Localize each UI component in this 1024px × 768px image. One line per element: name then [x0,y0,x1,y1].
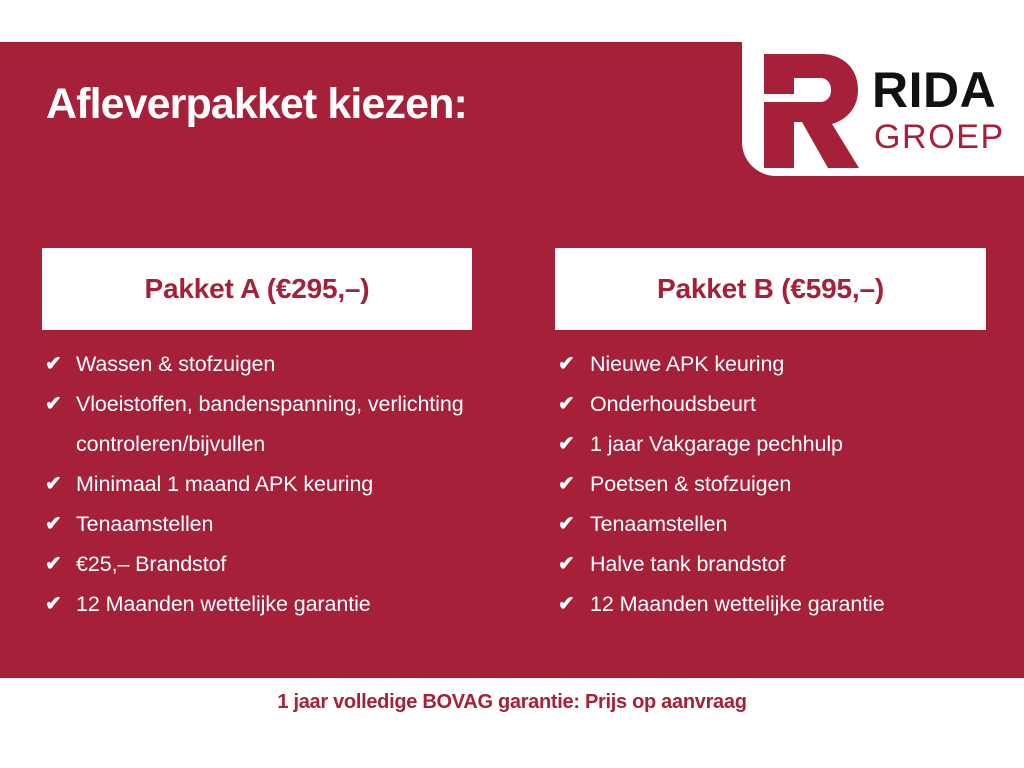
package-a-feature-list: ✔ Wassen & stofzuigen ✔ Vloeistoffen, ba… [42,344,472,624]
check-icon: ✔ [558,504,575,544]
list-item-label: 12 Maanden wettelijke garantie [76,592,371,616]
list-item: ✔ 12 Maanden wettelijke garantie [555,584,986,624]
list-item: ✔ Minimaal 1 maand APK keuring [42,464,472,504]
brand-logo-panel: RIDA GROEP [742,42,1024,176]
list-item: ✔ 12 Maanden wettelijke garantie [42,584,472,624]
list-item: ✔ Nieuwe APK keuring [555,344,986,384]
package-b-feature-list: ✔ Nieuwe APK keuring ✔ Onderhoudsbeurt ✔… [555,344,986,624]
list-item-label: Vloeistoffen, bandenspanning, verlichtin… [76,392,464,456]
footer-text: 1 jaar volledige BOVAG garantie: Prijs o… [277,691,746,714]
package-b-title: Pakket B (€595,–) [657,273,884,305]
package-column-b: Pakket B (€595,–) ✔ Nieuwe APK keuring ✔… [512,248,1024,624]
package-a-title: Pakket A (€295,–) [145,273,370,305]
check-icon: ✔ [558,544,575,584]
check-icon: ✔ [558,344,575,384]
list-item-label: 12 Maanden wettelijke garantie [590,592,885,616]
list-item-label: Halve tank brandstof [590,552,785,576]
check-icon: ✔ [45,344,62,384]
list-item-label: Tenaamstellen [590,512,727,536]
check-icon: ✔ [45,584,62,624]
page-title: Afleverpakket kiezen: [46,80,467,129]
check-icon: ✔ [558,584,575,624]
slide-canvas: RIDA GROEP Afleverpakket kiezen: Pakket … [0,0,1024,768]
list-item-label: €25,– Brandstof [76,552,226,576]
check-icon: ✔ [558,424,575,464]
check-icon: ✔ [45,504,62,544]
package-a-header: Pakket A (€295,–) [42,248,472,330]
list-item: ✔ €25,– Brandstof [42,544,472,584]
list-item-label: Poetsen & stofzuigen [590,472,791,496]
list-item-label: Wassen & stofzuigen [76,352,275,376]
list-item-label: 1 jaar Vakgarage pechhulp [590,432,843,456]
footer-banner: 1 jaar volledige BOVAG garantie: Prijs o… [0,678,1024,768]
check-icon: ✔ [45,544,62,584]
check-icon: ✔ [558,464,575,504]
brand-subtitle: GROEP [874,120,1005,154]
list-item: ✔ 1 jaar Vakgarage pechhulp [555,424,986,464]
package-b-header: Pakket B (€595,–) [555,248,986,330]
list-item: ✔ Vloeistoffen, bandenspanning, verlicht… [42,384,472,464]
package-column-a: Pakket A (€295,–) ✔ Wassen & stofzuigen … [0,248,512,624]
check-icon: ✔ [558,384,575,424]
list-item-label: Minimaal 1 maand APK keuring [76,472,373,496]
brand-name: RIDA [872,65,1005,115]
package-columns: Pakket A (€295,–) ✔ Wassen & stofzuigen … [0,248,1024,624]
list-item-label: Nieuwe APK keuring [590,352,784,376]
list-item: ✔ Poetsen & stofzuigen [555,464,986,504]
list-item-label: Onderhoudsbeurt [590,392,756,416]
brand-wordmark: RIDA GROEP [872,65,1005,154]
list-item-label: Tenaamstellen [76,512,213,536]
list-item: ✔ Onderhoudsbeurt [555,384,986,424]
rida-r-monogram-icon [758,50,862,172]
list-item: ✔ Halve tank brandstof [555,544,986,584]
list-item: ✔ Tenaamstellen [42,504,472,544]
list-item: ✔ Tenaamstellen [555,504,986,544]
check-icon: ✔ [45,464,62,504]
list-item: ✔ Wassen & stofzuigen [42,344,472,384]
check-icon: ✔ [45,384,62,424]
